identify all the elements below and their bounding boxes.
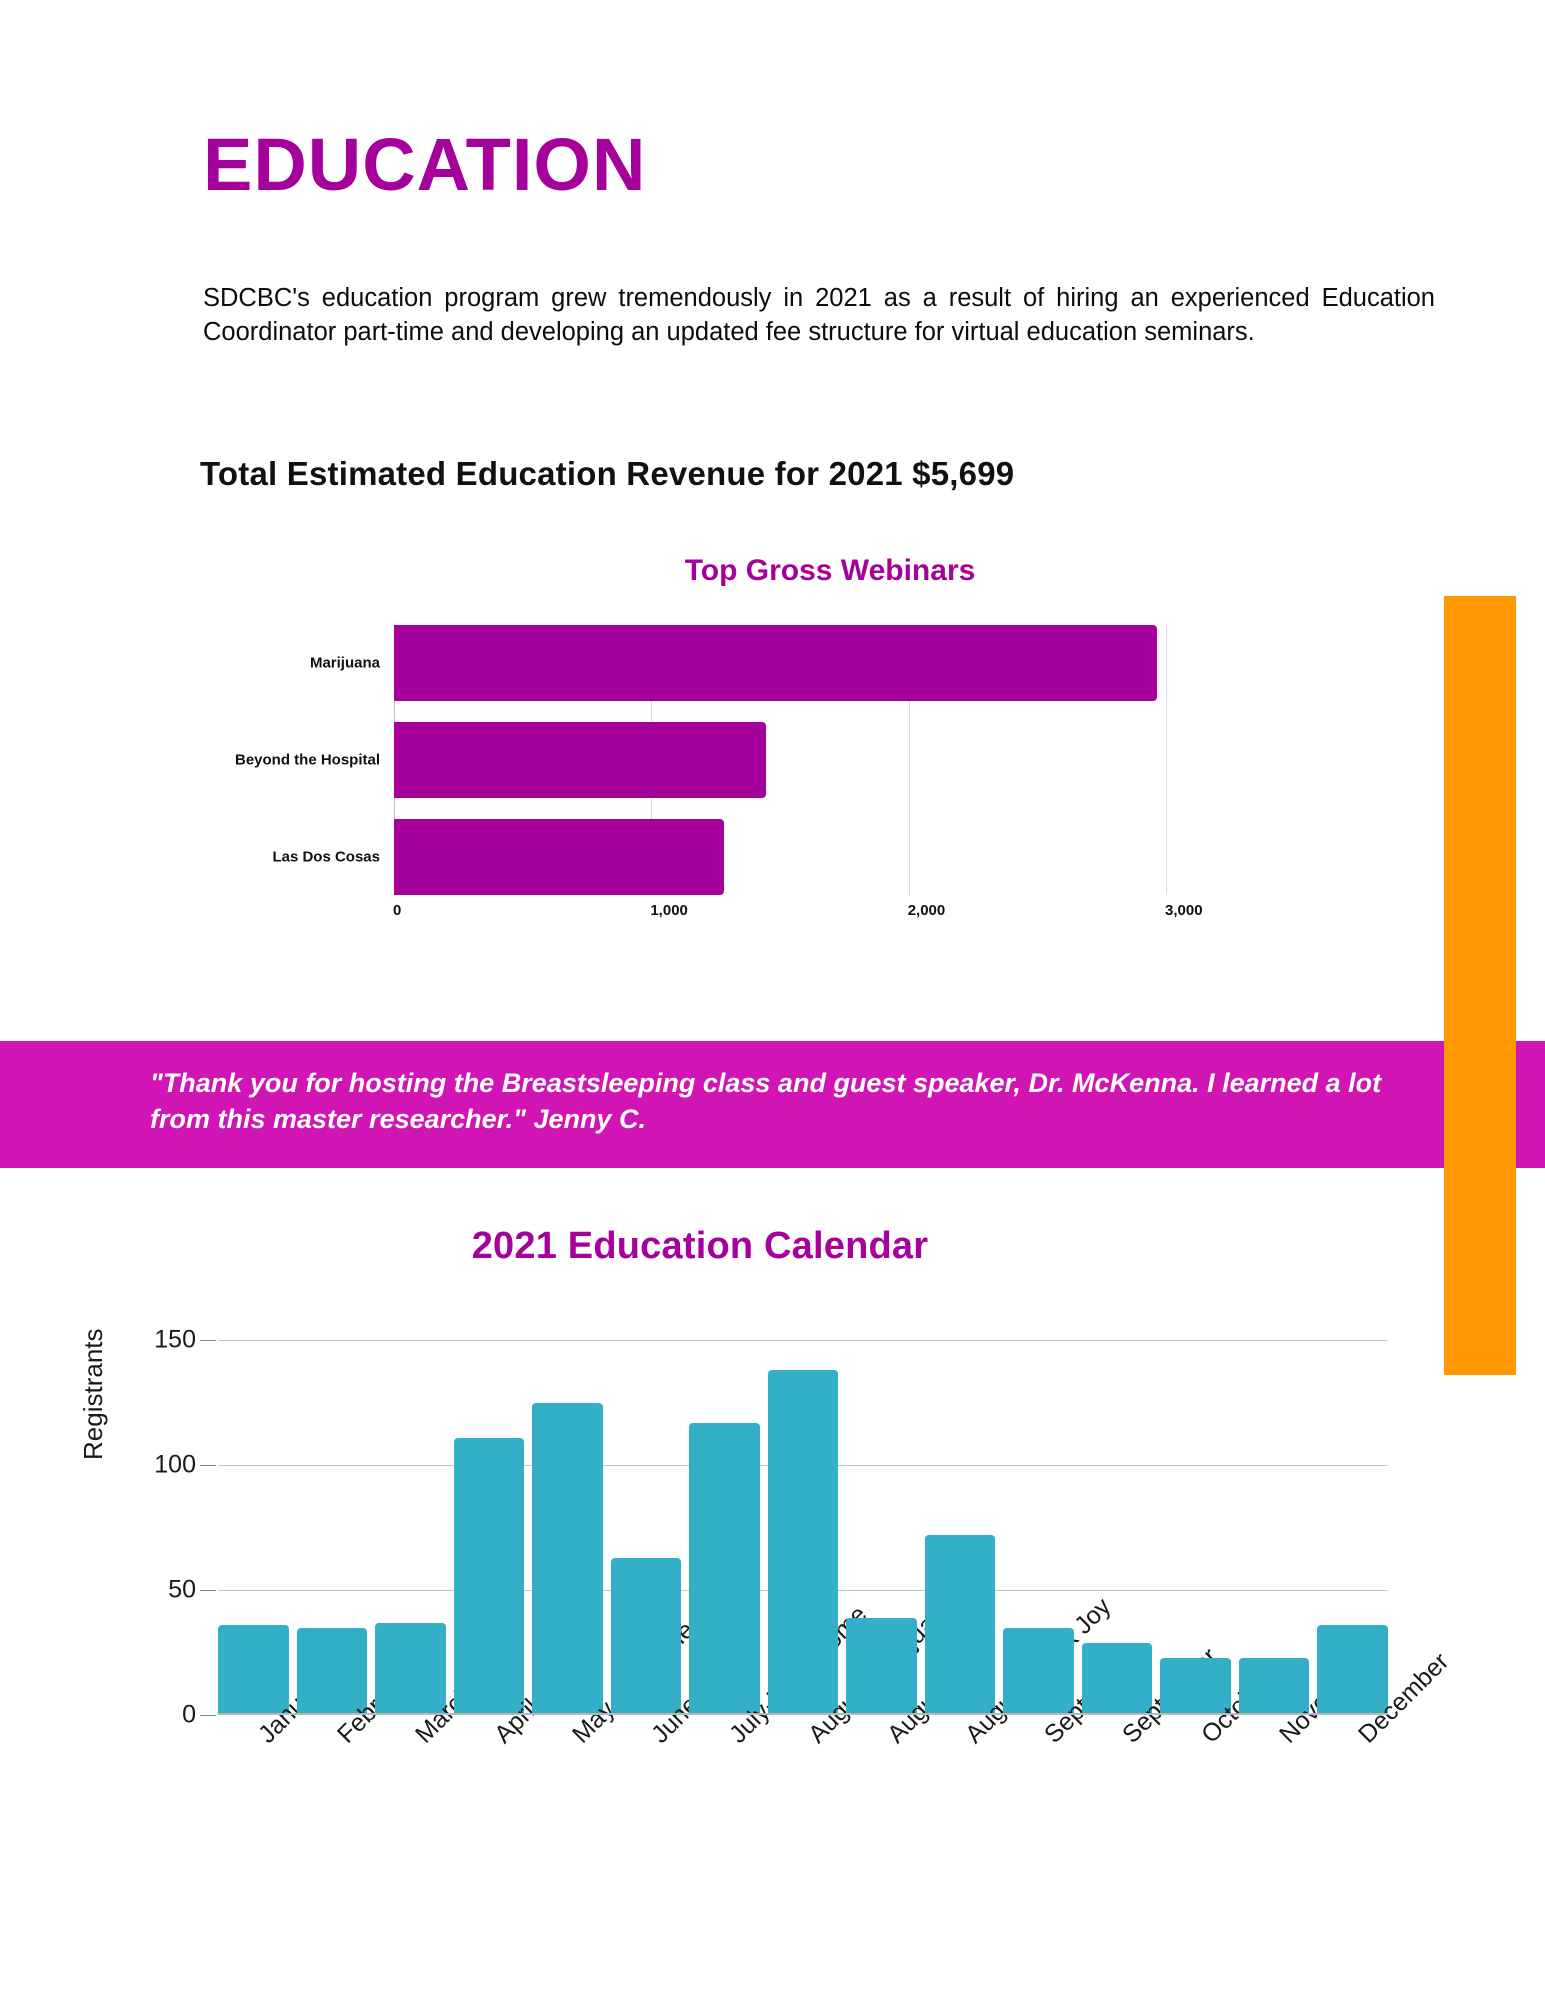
webinar-chart-title: Top Gross Webinars	[330, 554, 1330, 588]
webinar-x-axis-ticks: 01,0002,0003,000	[394, 902, 1269, 932]
calendar-bar	[925, 1535, 996, 1715]
webinar-category-label: Marijuana	[310, 655, 380, 672]
calendar-bar	[1317, 1625, 1388, 1715]
calendar-bar	[1003, 1628, 1074, 1716]
calendar-bar	[611, 1558, 682, 1716]
webinar-bar-row: Beyond the Hospital	[394, 722, 1269, 798]
testimonial-text: "Thank you for hosting the Breastsleepin…	[150, 1066, 1440, 1138]
page-title: EDUCATION	[203, 128, 646, 202]
calendar-bar	[768, 1370, 839, 1715]
calendar-bar	[454, 1438, 525, 1716]
top-gross-webinars-chart: Top Gross Webinars MarijuanaBeyond the H…	[150, 540, 1330, 1000]
webinar-x-tick-label: 1,000	[650, 902, 688, 919]
calendar-bar	[297, 1628, 368, 1716]
calendar-bar-slot: December	[1317, 1340, 1388, 1715]
calendar-bar-slot: July-Microbiome	[689, 1340, 760, 1715]
calendar-y-tick-label: 50	[168, 1576, 196, 1605]
revenue-heading: Total Estimated Education Revenue for 20…	[200, 455, 1014, 493]
calendar-plot-area: 050100150 JanuaryFebruaryMarchApril-Ethi…	[218, 1340, 1388, 1715]
calendar-bar	[689, 1423, 760, 1716]
calendar-bar	[375, 1623, 446, 1716]
webinar-bar-rows: MarijuanaBeyond the HospitalLas Dos Cosa…	[394, 625, 1269, 895]
webinar-x-tick-label: 2,000	[908, 902, 946, 919]
webinar-bar-row: Marijuana	[394, 625, 1269, 701]
calendar-bar-slot: January	[218, 1340, 289, 1715]
calendar-bar	[532, 1403, 603, 1716]
calendar-bars: JanuaryFebruaryMarchApril-EthicsMay-Brea…	[218, 1340, 1388, 1715]
calendar-bar-slot: June	[611, 1340, 682, 1715]
webinar-bar	[394, 625, 1157, 701]
calendar-y-tick-label: 0	[182, 1701, 196, 1730]
webinar-bar	[394, 819, 724, 895]
calendar-bar-slot: February	[297, 1340, 368, 1715]
calendar-bar	[846, 1618, 917, 1716]
calendar-bar-slot: May-Breastsleep	[532, 1340, 603, 1715]
education-calendar-chart: 2021 Education Calendar 050100150 Januar…	[0, 1225, 1420, 1865]
calendar-bar-slot: August	[846, 1340, 917, 1715]
orange-accent-stripe	[1444, 596, 1516, 1375]
calendar-y-axis-title: Registrants	[78, 1329, 109, 1461]
calendar-y-tick-mark	[200, 1465, 216, 1466]
webinar-category-label: Las Dos Cosas	[272, 849, 380, 866]
webinar-bar-row: Las Dos Cosas	[394, 819, 1269, 895]
webinar-x-tick-label: 0	[393, 902, 401, 919]
calendar-bar-slot: September	[1082, 1340, 1153, 1715]
calendar-bar-slot: March	[375, 1340, 446, 1715]
calendar-y-tick-mark	[200, 1590, 216, 1591]
calendar-bar	[218, 1625, 289, 1715]
calendar-bar-slot: April-Ethics	[454, 1340, 525, 1715]
calendar-bar-slot: November	[1239, 1340, 1310, 1715]
webinar-category-label: Beyond the Hospital	[235, 752, 380, 769]
calendar-chart-title: 2021 Education Calendar	[0, 1225, 1420, 1268]
calendar-y-tick-label: 100	[154, 1451, 196, 1480]
calendar-y-tick-label: 150	[154, 1326, 196, 1355]
webinar-x-tick-label: 3,000	[1165, 902, 1203, 919]
intro-paragraph: SDCBC's education program grew tremendou…	[203, 282, 1435, 350]
calendar-baseline	[218, 1713, 1388, 1715]
webinar-bar	[394, 722, 766, 798]
webinar-plot-area: MarijuanaBeyond the HospitalLas Dos Cosa…	[394, 625, 1269, 895]
calendar-bar-slot: September	[1003, 1340, 1074, 1715]
calendar-y-tick-mark	[200, 1340, 216, 1341]
calendar-bar-slot: August-Marijuana	[768, 1340, 839, 1715]
calendar-bar-slot: October	[1160, 1340, 1231, 1715]
calendar-bar-slot: August-Black Joy	[925, 1340, 996, 1715]
calendar-y-tick-mark	[200, 1715, 216, 1716]
